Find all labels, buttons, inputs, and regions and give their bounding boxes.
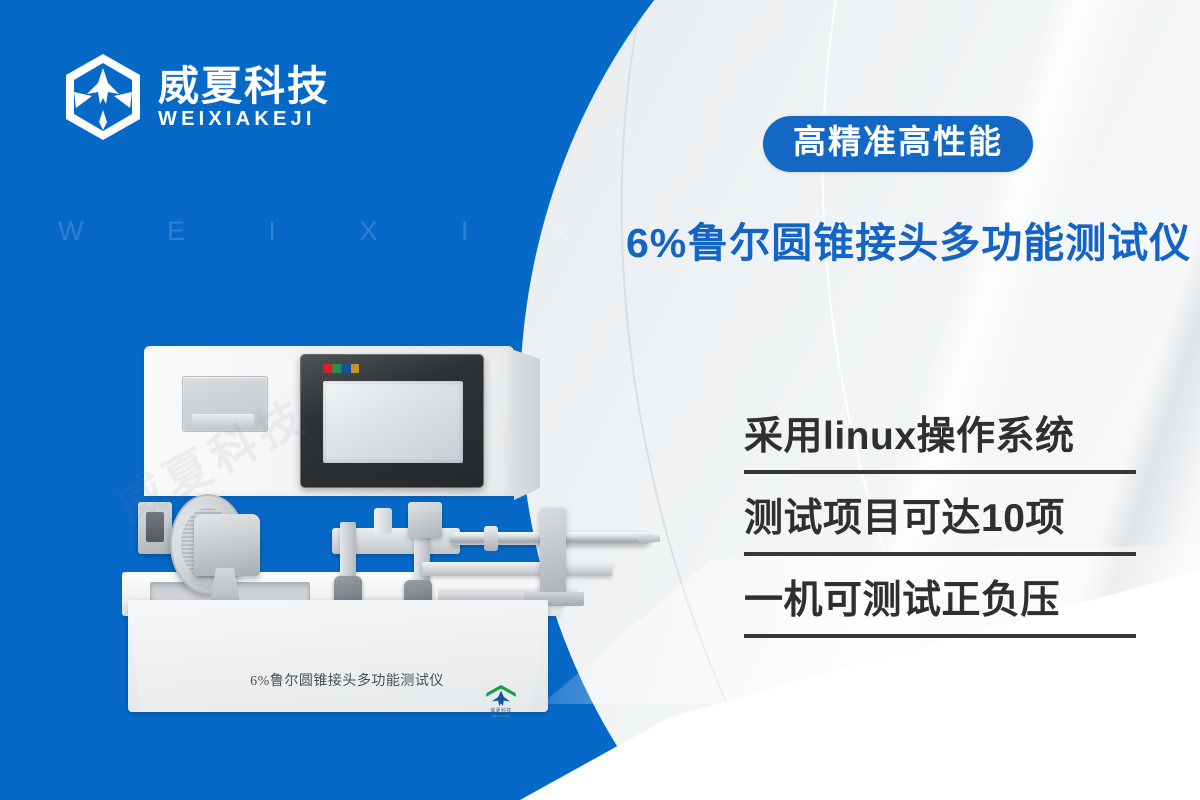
brand-logo: 威夏科技 WEIXIAKEJI — [62, 52, 330, 142]
feature-divider — [744, 634, 1136, 638]
end-bracket — [540, 508, 566, 604]
shaft-collar — [484, 526, 498, 551]
hmi-lcd-screen[interactable] — [323, 381, 463, 463]
linear-rail — [422, 562, 612, 576]
machine-logo-name-en: WEIXIAKEJI — [492, 715, 511, 718]
hexagon-arrow-logo-icon — [62, 52, 144, 142]
brand-name-en: WEIXIAKEJI — [158, 109, 330, 129]
rotary-hub — [194, 514, 260, 576]
hmi-brand-strip-icon — [323, 364, 359, 373]
product-photo: 威夏科技 6%鲁尔圆锥接头多功能测试仪 威夏科技 WEIXIAKEJI — [122, 336, 652, 732]
feature-item: 一机可测试正负压 — [744, 578, 1136, 638]
feature-item-label: 一机可测试正负压 — [744, 578, 1136, 630]
feature-item-label: 测试项目可达10项 — [744, 496, 1136, 548]
feature-divider — [744, 470, 1136, 474]
machine-front-label: 6%鲁尔圆锥接头多功能测试仪 — [172, 670, 522, 690]
rotary-clamp[interactable] — [138, 502, 172, 554]
fixture-grip[interactable] — [408, 502, 442, 538]
machine-back-side — [514, 350, 540, 500]
hmi-touchscreen[interactable] — [300, 354, 484, 488]
feature-list: 采用linux操作系统 测试项目可达10项 一机可测试正负压 — [744, 414, 1136, 660]
feature-item: 测试项目可达10项 — [744, 496, 1136, 556]
feature-divider — [744, 552, 1136, 556]
fixture-vial — [374, 508, 392, 534]
machine-hexagon-logo-icon — [481, 684, 521, 708]
machine-side-plate — [182, 376, 268, 432]
brand-text-block: 威夏科技 WEIXIAKEJI — [158, 66, 330, 129]
fixture-post-left — [340, 522, 356, 584]
brand-name-cn: 威夏科技 — [158, 66, 330, 107]
feature-badge: 高精准高性能 — [763, 116, 1033, 172]
machine-brand-logo: 威夏科技 WEIXIAKEJI — [480, 684, 522, 720]
banner-stage: 威夏科技 WEIXIAKEJI W E I X I A K E J I 高精准高… — [0, 0, 1200, 800]
feature-item: 采用linux操作系统 — [744, 414, 1136, 474]
feature-item-label: 采用linux操作系统 — [744, 414, 1136, 466]
page-title: 6%鲁尔圆锥接头多功能测试仪 — [626, 209, 1191, 269]
